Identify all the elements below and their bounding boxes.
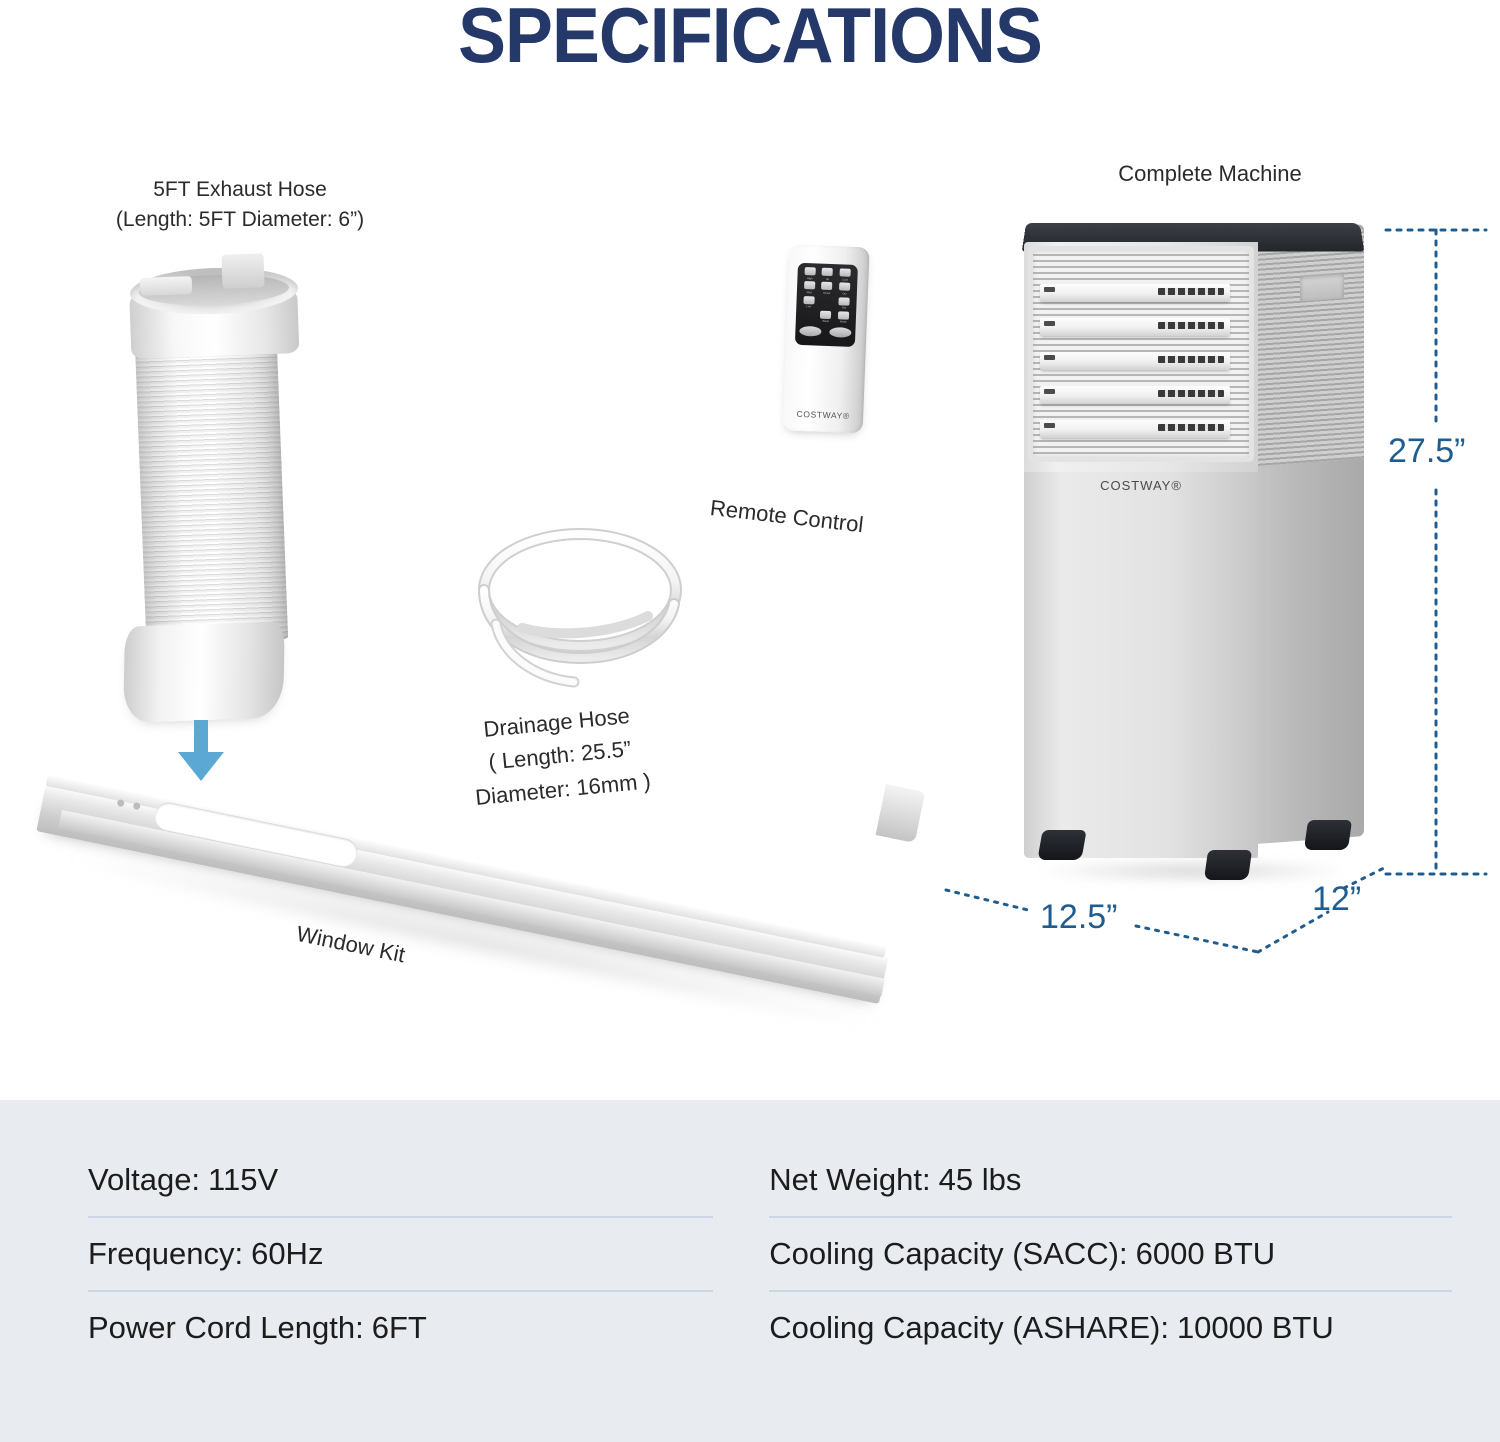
complete-machine-label: Complete Machine [1010,158,1410,190]
portable-ac-unit-image: COSTWAY® [1010,222,1380,872]
spec-row-net-weight: Net Weight: 45 lbs [769,1144,1452,1218]
hose-tab-right [221,253,264,288]
remote-key[interactable]: Cool [837,268,854,282]
spec-label: Cooling Capacity (ASHARE): [769,1310,1169,1346]
remote-key-icon [822,268,833,276]
unit-brand-logo: COSTWAY® [1024,478,1258,493]
remote-key-icon [839,297,850,305]
spec-value: 60Hz [251,1236,323,1272]
remote-key[interactable]: Fan [836,297,853,311]
drainage-hose-image [462,512,692,702]
remote-key[interactable]: Med [801,281,818,295]
remote-key-icon [804,281,815,289]
remote-key-icon [820,310,831,318]
remote-key-icon [804,267,815,275]
remote-key-icon [803,295,814,303]
unit-side-vents [1256,228,1364,466]
spec-label: Voltage: [88,1162,200,1198]
specifications-page: SPECIFICATIONS 5FT Exhaust Hose (Length:… [0,0,1500,1442]
spec-row-voltage: Voltage: 115V [88,1144,713,1218]
remote-key[interactable]: Dry [836,282,853,296]
unit-caster-wheel [1037,830,1086,860]
remote-control-image: High Up Cool Med Down Dry Low Fan Sleep … [782,244,875,439]
remote-key-icon [839,283,850,291]
remote-timer-button[interactable] [799,326,821,337]
width-dimension-label: 12.5” [1040,898,1118,937]
spec-label: Cooling Capacity (SACC): [769,1236,1127,1272]
remote-key[interactable]: Mode [835,311,852,325]
remote-oval-buttons [799,326,852,344]
spec-columns: Voltage: 115V Frequency: 60Hz Power Cord… [88,1144,1452,1364]
remote-key[interactable]: Sleep [817,310,834,324]
unit-side-handle [1300,272,1344,301]
spec-value: 6FT [372,1310,427,1346]
spec-value: 115V [208,1162,278,1198]
spec-row-frequency: Frequency: 60Hz [88,1218,713,1292]
remote-key-icon [838,311,849,319]
spec-label: Net Weight: [769,1162,930,1198]
spec-label: Power Cord Length: [88,1310,364,1346]
exhaust-hose-label: 5FT Exhaust Hose (Length: 5FT Diameter: … [60,175,420,236]
hose-corrugated-body [134,309,289,644]
remote-key-icon [840,268,851,276]
exhaust-hose-image [112,252,308,720]
unit-louver-fin [1040,420,1230,438]
remote-key-icon [821,282,832,290]
remote-button-grid: High Up Cool Med Down Dry Low Fan Sleep … [800,267,854,325]
spec-column-right: Net Weight: 45 lbs Cooling Capacity (SAC… [769,1144,1452,1364]
spec-value: 10000 BTU [1177,1310,1334,1346]
unit-louver-fin [1040,352,1230,370]
spec-value: 6000 BTU [1136,1236,1276,1272]
remote-key-empty [818,296,835,310]
exhaust-hose-name: 5FT Exhaust Hose [60,175,420,205]
remote-key-empty [800,310,817,324]
unit-caster-wheel [1304,820,1352,850]
specifications-table: Voltage: 115V Frequency: 60Hz Power Cord… [0,1100,1500,1442]
spec-row-cooling-capacity-ashare: Cooling Capacity (ASHARE): 10000 BTU [769,1292,1452,1364]
remote-key-label: Mode [835,322,852,325]
remote-button-panel: High Up Cool Med Down Dry Low Fan Sleep … [795,263,858,347]
page-title: SPECIFICATIONS [60,0,1440,81]
hose-tab-left [140,276,193,296]
remote-key-label: Sleep [817,321,834,324]
height-dimension-line [1376,222,1496,882]
depth-dimension-label: 12” [1312,880,1361,919]
window-kit-end-cap [876,784,926,843]
remote-key[interactable]: Down [818,282,835,296]
spec-row-cooling-capacity-sacc: Cooling Capacity (SACC): 6000 BTU [769,1218,1452,1292]
spec-column-left: Voltage: 115V Frequency: 60Hz Power Cord… [88,1144,713,1364]
remote-control-label: Remote Control [708,492,865,541]
spec-row-power-cord-length: Power Cord Length: 6FT [88,1292,713,1364]
hose-bottom-cuff [123,621,285,723]
height-dimension-label: 27.5” [1388,432,1466,471]
unit-louver-fin [1040,318,1230,336]
remote-key[interactable]: Up [819,268,836,282]
spec-value: 45 lbs [939,1162,1022,1198]
unit-louver-fin [1040,284,1230,302]
unit-lower-body [1024,472,1258,858]
spec-label: Frequency: [88,1236,243,1272]
unit-louver-fin [1040,386,1230,404]
remote-key[interactable]: Low [800,295,817,309]
exhaust-hose-detail: (Length: 5FT Diameter: 6”) [60,205,420,235]
window-kit-rail [58,810,884,997]
remote-key[interactable]: High [801,267,818,281]
remote-power-button[interactable] [829,327,851,338]
